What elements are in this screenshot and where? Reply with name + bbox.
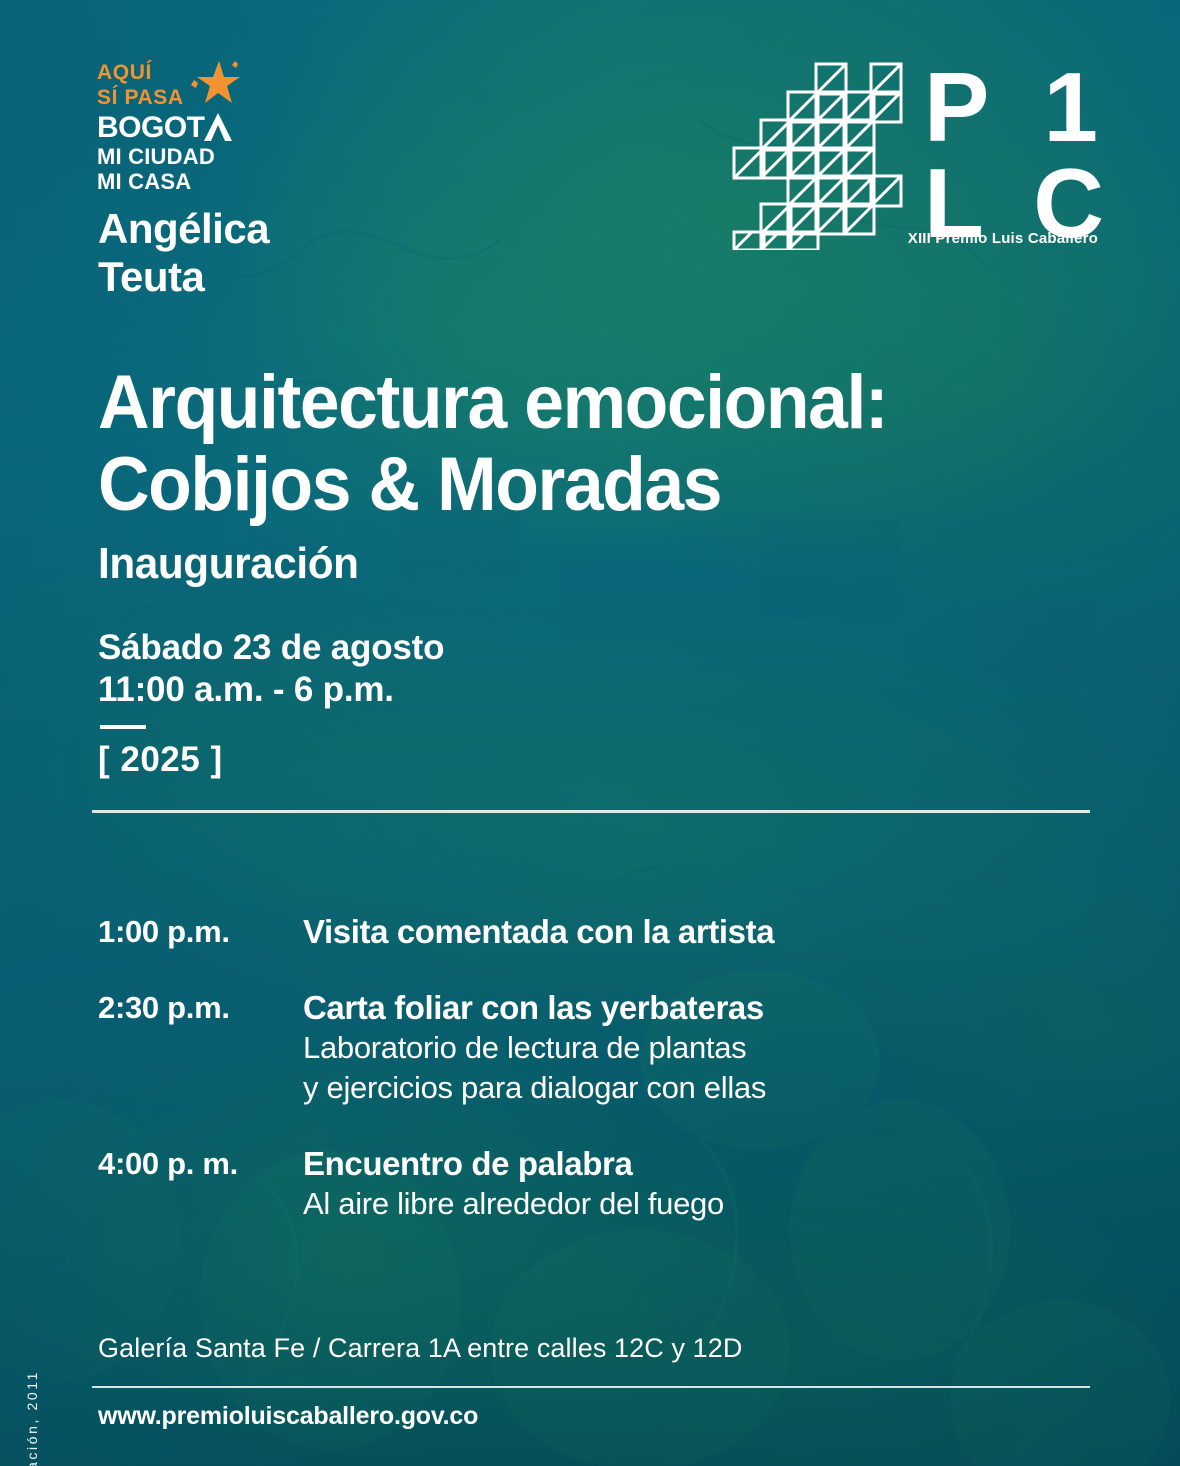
footer-divider — [92, 1386, 1090, 1388]
star-icon — [185, 57, 241, 109]
schedule-item: 4:00 p. m. Encuentro de palabra Al aire … — [98, 1144, 1058, 1224]
plc-grid-icon — [728, 60, 908, 250]
website-link[interactable]: www.premioluiscaballero.gov.co — [98, 1400, 478, 1432]
plc-logo: P 1 L C XIII Premio Luis Caballero — [728, 58, 1098, 258]
schedule-item-time: 2:30 p.m. — [98, 988, 303, 1028]
artist-last-name: Teuta — [98, 253, 269, 301]
date-day: Sábado 23 de agosto — [98, 627, 444, 669]
artist-first-name: Angélica — [98, 205, 269, 253]
schedule-item-body: Encuentro de palabra Al aire libre alred… — [303, 1144, 1058, 1224]
venue-address: Galería Santa Fe / Carrera 1A entre call… — [98, 1331, 743, 1365]
schedule-item: 2:30 p.m. Carta foliar con las yerbatera… — [98, 988, 1058, 1108]
schedule-item-time: 4:00 p. m. — [98, 1144, 303, 1184]
schedule-item-heading: Encuentro de palabra — [303, 1144, 1058, 1184]
schedule-item-desc-line1: Laboratorio de lectura de plantas — [303, 1028, 1058, 1068]
schedule-item-time: 1:00 p.m. — [98, 912, 303, 952]
schedule-item: 1:00 p.m. Visita comentada con la artist… — [98, 912, 1058, 952]
title-subtitle: Inauguración — [98, 540, 1039, 588]
artwork-credit: Angélica Teuta. Bosque transformado. Vid… — [24, 1370, 40, 1466]
credit-wrap: Angélica Teuta. Bosque transformado. Vid… — [8, 926, 54, 1466]
section-divider — [92, 810, 1090, 813]
plc-letter-p: P — [924, 58, 989, 156]
schedule-item-desc-line1: Al aire libre alrededor del fuego — [303, 1184, 1058, 1224]
schedule-item-desc-line2: y ejercicios para dialogar con ellas — [303, 1068, 1058, 1108]
event-poster: AQUÍ SÍ PASA BOGOT MI CIUDAD MI CASA — [0, 0, 1180, 1466]
schedule-item-body: Visita comentada con la artista — [303, 912, 1058, 952]
plc-letters: P 1 L C — [924, 58, 1100, 226]
schedule-item-heading: Carta foliar con las yerbateras — [303, 988, 1058, 1028]
plc-caption: XIII Premio Luis Caballero — [908, 230, 1098, 247]
date-block: Sábado 23 de agosto 11:00 a.m. - 6 p.m. … — [98, 627, 444, 781]
title-line-1: Arquitectura emocional: — [98, 362, 1019, 444]
bogota-logo: AQUÍ SÍ PASA BOGOT MI CIUDAD MI CASA — [97, 60, 337, 194]
title-line-2: Cobijos & Moradas — [98, 444, 1019, 526]
date-hours: 11:00 a.m. - 6 p.m. — [98, 669, 444, 711]
schedule-list: 1:00 p.m. Visita comentada con la artist… — [98, 912, 1058, 1260]
title-block: Arquitectura emocional: Cobijos & Morada… — [98, 362, 1078, 588]
bogota-logo-sub1: MI CIUDAD — [97, 144, 337, 169]
schedule-item-heading: Visita comentada con la artista — [303, 912, 1058, 952]
artist-name: Angélica Teuta — [98, 205, 269, 301]
plc-letter-one: 1 — [1043, 58, 1098, 156]
bogota-logo-sub2: MI CASA — [97, 169, 337, 194]
bogota-wordmark-text: BOGOT — [97, 112, 205, 144]
schedule-item-body: Carta foliar con las yerbateras Laborato… — [303, 988, 1058, 1108]
date-rule — [100, 725, 146, 729]
bogota-accent-a-icon — [203, 112, 233, 142]
bogota-wordmark: BOGOT — [97, 112, 337, 144]
date-year: [ 2025 ] — [98, 739, 444, 781]
